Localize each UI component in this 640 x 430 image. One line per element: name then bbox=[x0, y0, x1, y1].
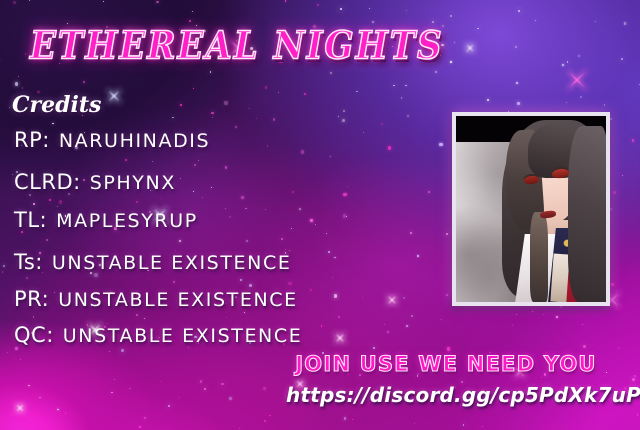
credit-role: RP: bbox=[14, 128, 50, 152]
portrait-sash bbox=[550, 254, 569, 303]
portrait-right-hair bbox=[568, 126, 608, 302]
character-portrait bbox=[452, 112, 610, 306]
credit-name: NARUHINADIS bbox=[59, 130, 210, 152]
credit-name: MAPLESYRUP bbox=[56, 210, 198, 232]
credit-name: UNSTABLE EXISTENCE bbox=[52, 252, 292, 274]
credit-name: UNSTABLE EXISTENCE bbox=[58, 289, 298, 311]
credit-role: PR: bbox=[14, 287, 49, 311]
credit-role: Ts: bbox=[14, 250, 43, 274]
credit-row: Ts:UNSTABLE EXISTENCE bbox=[14, 250, 291, 280]
credit-name: SPHYNX bbox=[90, 172, 176, 194]
join-call-to-action: JOIN USE WE NEED YOU bbox=[286, 352, 606, 378]
portrait-front-lock bbox=[530, 212, 548, 302]
credits-page: ETHEREAL NIGHTS Credits RP:NARUHINADISCL… bbox=[0, 0, 640, 430]
page-title: ETHEREAL NIGHTS bbox=[30, 24, 450, 76]
credit-name: UNSTABLE EXISTENCE bbox=[63, 325, 303, 347]
credit-row: RP:NARUHINADIS bbox=[14, 128, 210, 158]
credits-heading: Credits bbox=[12, 92, 101, 118]
credit-role: QC: bbox=[14, 323, 54, 347]
credit-row: TL:MAPLESYRUP bbox=[14, 208, 198, 238]
credit-row: CLRD:SPHYNX bbox=[14, 170, 176, 200]
credit-role: TL: bbox=[14, 208, 47, 232]
credit-role: CLRD: bbox=[14, 170, 81, 194]
discord-invite-link[interactable]: https://discord.gg/cp5PdXk7uP bbox=[286, 383, 606, 409]
credit-row: QC:UNSTABLE EXISTENCE bbox=[14, 323, 302, 353]
credit-row: PR:UNSTABLE EXISTENCE bbox=[14, 287, 298, 317]
